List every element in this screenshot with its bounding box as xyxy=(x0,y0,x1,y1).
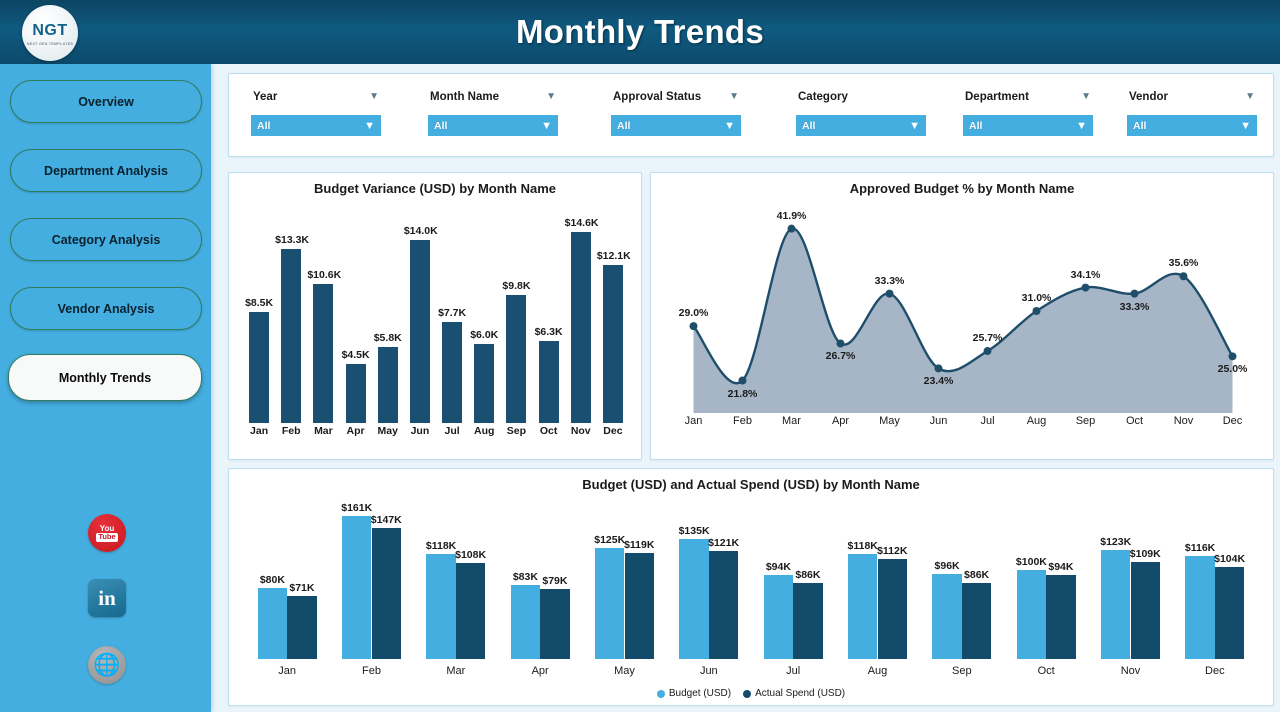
legend-color-swatch xyxy=(743,690,751,698)
bar[interactable] xyxy=(595,548,625,659)
x-axis-tick: Jul xyxy=(963,415,1012,427)
x-axis-tick: Oct xyxy=(1004,665,1088,677)
bar-value-label: $123K xyxy=(1093,536,1139,548)
data-point-label: 23.4% xyxy=(914,375,963,387)
legend-label: Actual Spend (USD) xyxy=(755,688,845,699)
logo-text: NGT xyxy=(32,23,67,39)
bar[interactable] xyxy=(1017,570,1047,659)
x-axis-tick: Feb xyxy=(718,415,767,427)
bar[interactable] xyxy=(793,583,823,659)
bar-value-label: $108K xyxy=(448,549,494,561)
slicer-month-name: Month Name ▼ All ▼ xyxy=(428,87,558,136)
bar[interactable] xyxy=(287,596,317,659)
x-axis-tick: Sep xyxy=(1061,415,1110,427)
chevron-down-icon: ▼ xyxy=(364,121,375,131)
bar-value-label: $4.5K xyxy=(340,349,372,361)
page-title: Monthly Trends xyxy=(0,13,1280,51)
bar[interactable] xyxy=(346,364,366,423)
x-axis-tick: May xyxy=(865,415,914,427)
chart-title: Approved Budget % by Month Name xyxy=(651,181,1273,196)
bar[interactable] xyxy=(258,588,288,659)
slicer-value: All xyxy=(434,120,447,132)
x-axis-tick: Jan xyxy=(245,665,329,677)
bar[interactable] xyxy=(410,240,430,423)
bar-value-label: $6.3K xyxy=(533,326,565,338)
slicer-header[interactable]: Department ▼ xyxy=(963,87,1093,107)
x-axis-tick: Jun xyxy=(914,415,963,427)
bar-value-label: $119K xyxy=(617,539,663,551)
bar[interactable] xyxy=(372,528,402,659)
slicer-vendor: Vendor ▼ All ▼ xyxy=(1127,87,1257,136)
slicer-label: Vendor xyxy=(1129,91,1168,103)
bar[interactable] xyxy=(426,554,456,659)
chevron-down-icon[interactable]: ▼ xyxy=(1245,92,1255,102)
legend-item-budget[interactable]: Budget (USD) xyxy=(657,688,731,699)
data-point-label: 31.0% xyxy=(1012,292,1061,304)
sidebar-item-label: Category Analysis xyxy=(52,233,161,247)
bar[interactable] xyxy=(474,344,494,423)
slicer-label: Year xyxy=(253,91,277,103)
chevron-down-icon: ▼ xyxy=(724,121,735,131)
bar-value-label: $135K xyxy=(671,525,717,537)
slicer-category: Category ▼ All ▼ xyxy=(796,87,926,136)
x-axis-tick: Aug xyxy=(835,665,919,677)
bar[interactable] xyxy=(1046,575,1076,659)
bar[interactable] xyxy=(709,551,739,659)
x-axis-tick: Nov xyxy=(1159,415,1208,427)
slicer-label: Department xyxy=(965,91,1029,103)
bar[interactable] xyxy=(506,295,526,423)
bar-value-label: $10.6K xyxy=(307,269,339,281)
x-axis-tick: Apr xyxy=(340,425,372,437)
bar[interactable] xyxy=(764,575,794,659)
bar[interactable] xyxy=(625,553,655,659)
data-point-marker[interactable] xyxy=(886,290,894,298)
slicer-dropdown[interactable]: All ▼ xyxy=(1127,115,1257,136)
bar[interactable] xyxy=(342,516,372,659)
bar-value-label: $86K xyxy=(785,569,831,581)
bar[interactable] xyxy=(511,585,541,659)
legend-item-actual-spend[interactable]: Actual Spend (USD) xyxy=(743,688,845,699)
bar[interactable] xyxy=(571,232,591,423)
bar[interactable] xyxy=(878,559,908,659)
sidebar: Overview Department Analysis Category An… xyxy=(0,64,211,712)
data-point-label: 21.8% xyxy=(718,388,767,400)
logo-subtext: NEXT GEN TEMPLATES xyxy=(27,42,73,46)
x-axis-tick: Oct xyxy=(533,425,565,437)
data-point-label: 26.7% xyxy=(816,350,865,362)
sidebar-item-department-analysis[interactable]: Department Analysis xyxy=(10,149,202,192)
x-axis-tick: Apr xyxy=(498,665,582,677)
x-axis-tick: Oct xyxy=(1110,415,1159,427)
bar[interactable] xyxy=(1215,567,1245,659)
sidebar-item-label: Overview xyxy=(78,95,134,109)
x-axis-tick: Jul xyxy=(436,425,468,437)
plot-area: $8.5K$13.3K$10.6K$4.5K$5.8K$14.0K$7.7K$6… xyxy=(243,211,629,423)
chart-legend: Budget (USD) Actual Spend (USD) xyxy=(229,688,1273,699)
x-axis: JanFebMarAprMayJunJulAugSepOctNovDec xyxy=(245,665,1257,683)
x-axis-tick: Sep xyxy=(920,665,1004,677)
youtube-line2: Tube xyxy=(96,533,117,542)
x-axis-tick: Aug xyxy=(468,425,500,437)
bar-value-label: $13.3K xyxy=(275,234,307,246)
bar[interactable] xyxy=(456,563,486,659)
chart-budget-vs-actual[interactable]: Budget (USD) and Actual Spend (USD) by M… xyxy=(228,468,1274,706)
slicer-dropdown[interactable]: All ▼ xyxy=(796,115,926,136)
slicer-header[interactable]: Vendor ▼ xyxy=(1127,87,1257,107)
slicer-header[interactable]: Approval Status ▼ xyxy=(611,87,741,107)
bar-value-label: $71K xyxy=(279,582,325,594)
bar[interactable] xyxy=(1185,556,1215,659)
data-point-marker[interactable] xyxy=(984,347,992,355)
x-axis-tick: Sep xyxy=(500,425,532,437)
bar[interactable] xyxy=(539,341,559,423)
slicer-dropdown[interactable]: All ▼ xyxy=(611,115,741,136)
legend-label: Budget (USD) xyxy=(669,688,731,699)
data-point-marker[interactable] xyxy=(1131,290,1139,298)
linkedin-icon[interactable]: in xyxy=(88,579,126,617)
chevron-down-icon: ▼ xyxy=(909,121,920,131)
bar[interactable] xyxy=(1131,562,1161,659)
bar[interactable] xyxy=(249,312,269,423)
bar-value-label: $8.5K xyxy=(243,297,275,309)
slicer-header[interactable]: Year ▼ xyxy=(251,87,381,107)
x-axis-tick: Aug xyxy=(1012,415,1061,427)
slicer-value: All xyxy=(1133,120,1146,132)
bar[interactable] xyxy=(848,554,878,659)
slicer-value: All xyxy=(802,120,815,132)
legend-color-swatch xyxy=(657,690,665,698)
youtube-icon[interactable]: You Tube xyxy=(88,514,126,552)
data-point-label: 33.3% xyxy=(865,275,914,287)
sidebar-item-vendor-analysis[interactable]: Vendor Analysis xyxy=(10,287,202,330)
bar-value-label: $14.6K xyxy=(565,217,597,229)
x-axis-tick: Dec xyxy=(597,425,629,437)
bar-value-label: $7.7K xyxy=(436,307,468,319)
chevron-down-icon[interactable]: ▼ xyxy=(1081,92,1091,102)
x-axis-tick: Jun xyxy=(404,425,436,437)
filter-bar: Year ▼ All ▼ Month Name ▼ All ▼ Approval… xyxy=(228,73,1274,157)
x-axis-tick: Jun xyxy=(667,665,751,677)
data-point-label: 35.6% xyxy=(1159,257,1208,269)
bar-value-label: $112K xyxy=(870,545,916,557)
bar[interactable] xyxy=(378,347,398,423)
website-icon[interactable]: 🌐 xyxy=(88,646,126,684)
x-axis-tick: Mar xyxy=(767,415,816,427)
linkedin-glyph: in xyxy=(98,588,116,609)
chevron-down-icon: ▼ xyxy=(1240,121,1251,131)
data-point-marker[interactable] xyxy=(1229,352,1237,360)
x-axis-tick: Feb xyxy=(275,425,307,437)
slicer-dropdown[interactable]: All ▼ xyxy=(251,115,381,136)
slicer-value: All xyxy=(617,120,630,132)
data-point-label: 25.7% xyxy=(963,332,1012,344)
bar-value-label: $5.8K xyxy=(372,332,404,344)
x-axis-tick: Nov xyxy=(565,425,597,437)
bar[interactable] xyxy=(313,284,333,423)
x-axis-tick: Dec xyxy=(1173,665,1257,677)
sidebar-item-label: Vendor Analysis xyxy=(58,302,155,316)
x-axis-tick: Nov xyxy=(1088,665,1172,677)
globe-glyph: 🌐 xyxy=(93,654,120,676)
slicer-value: All xyxy=(257,120,270,132)
sidebar-item-label: Department Analysis xyxy=(44,164,168,178)
chevron-down-icon[interactable]: ▼ xyxy=(369,92,379,102)
bar-value-label: $94K xyxy=(1038,561,1084,573)
x-axis-tick: Jul xyxy=(751,665,835,677)
data-point-marker[interactable] xyxy=(739,377,747,385)
bar[interactable] xyxy=(603,265,623,423)
bar-value-label: $12.1K xyxy=(597,250,629,262)
plot-area: $80K$71K$161K$147K$118K$108K$83K$79K$125… xyxy=(245,499,1257,659)
data-point-marker[interactable] xyxy=(837,339,845,347)
bar[interactable] xyxy=(679,539,709,659)
x-axis-tick: Mar xyxy=(414,665,498,677)
data-point-marker[interactable] xyxy=(1180,272,1188,280)
bar[interactable] xyxy=(442,322,462,423)
slicer-header[interactable]: Month Name ▼ xyxy=(428,87,558,107)
chart-title: Budget (USD) and Actual Spend (USD) by M… xyxy=(229,477,1273,492)
plot-area: 29.0%21.8%41.9%26.7%33.3%23.4%25.7%31.0%… xyxy=(669,209,1257,413)
chart-approved-budget-pct[interactable]: Approved Budget % by Month Name 29.0%21.… xyxy=(650,172,1274,460)
bar-value-label: $86K xyxy=(954,569,1000,581)
bar-value-label: $14.0K xyxy=(404,225,436,237)
sidebar-item-label: Monthly Trends xyxy=(59,371,151,385)
slicer-header[interactable]: Category ▼ xyxy=(796,87,926,107)
bar-value-label: $9.8K xyxy=(500,280,532,292)
slicer-year: Year ▼ All ▼ xyxy=(251,87,381,136)
x-axis-tick: Feb xyxy=(329,665,413,677)
brand-logo: NGT NEXT GEN TEMPLATES xyxy=(22,5,78,61)
sidebar-item-category-analysis[interactable]: Category Analysis xyxy=(10,218,202,261)
chart-title: Budget Variance (USD) by Month Name xyxy=(229,181,641,196)
data-point-label: 29.0% xyxy=(669,307,718,319)
x-axis-tick: May xyxy=(582,665,666,677)
bar-value-label: $161K xyxy=(334,502,380,514)
x-axis-tick: Jan xyxy=(243,425,275,437)
bar[interactable] xyxy=(540,589,570,659)
chevron-down-icon: ▼ xyxy=(541,121,552,131)
slicer-dropdown[interactable]: All ▼ xyxy=(428,115,558,136)
data-point-marker[interactable] xyxy=(788,225,796,233)
x-axis-tick: Mar xyxy=(307,425,339,437)
dashboard-page: NGT NEXT GEN TEMPLATES Monthly Trends Ov… xyxy=(0,0,1280,712)
data-point-marker[interactable] xyxy=(1082,284,1090,292)
youtube-glyph: You Tube xyxy=(96,525,117,542)
bar[interactable] xyxy=(932,574,962,659)
data-point-marker[interactable] xyxy=(1033,307,1041,315)
chevron-down-icon[interactable]: ▼ xyxy=(546,92,556,102)
x-axis: JanFebMarAprMayJunJulAugSepOctNovDec xyxy=(243,425,629,443)
slicer-label: Month Name xyxy=(430,91,499,103)
bar[interactable] xyxy=(281,249,301,423)
data-point-marker[interactable] xyxy=(935,364,943,372)
x-axis-tick: Apr xyxy=(816,415,865,427)
chevron-down-icon[interactable]: ▼ xyxy=(729,92,739,102)
bar[interactable] xyxy=(1101,550,1131,659)
bar-value-label: $6.0K xyxy=(468,329,500,341)
area-series-svg xyxy=(669,209,1257,413)
slicer-value: All xyxy=(969,120,982,132)
sidebar-item-monthly-trends[interactable]: Monthly Trends xyxy=(8,354,202,401)
x-axis-tick: Dec xyxy=(1208,415,1257,427)
slicer-department: Department ▼ All ▼ xyxy=(963,87,1093,136)
bar-value-label: $109K xyxy=(1123,548,1169,560)
slicer-approval-status: Approval Status ▼ All ▼ xyxy=(611,87,741,136)
chart-budget-variance[interactable]: Budget Variance (USD) by Month Name $8.5… xyxy=(228,172,642,460)
bar[interactable] xyxy=(962,583,992,659)
data-point-marker[interactable] xyxy=(690,322,698,330)
bar-value-label: $147K xyxy=(364,514,410,526)
page-header: NGT NEXT GEN TEMPLATES Monthly Trends xyxy=(0,0,1280,64)
data-point-label: 34.1% xyxy=(1061,269,1110,281)
sidebar-item-overview[interactable]: Overview xyxy=(10,80,202,123)
slicer-dropdown[interactable]: All ▼ xyxy=(963,115,1093,136)
bar-value-label: $121K xyxy=(701,537,747,549)
data-point-label: 41.9% xyxy=(767,210,816,222)
x-axis-tick: Jan xyxy=(669,415,718,427)
data-point-label: 25.0% xyxy=(1208,363,1257,375)
bar-value-label: $104K xyxy=(1207,553,1253,565)
data-point-label: 33.3% xyxy=(1110,301,1159,313)
bar-value-label: $79K xyxy=(532,575,578,587)
chevron-down-icon: ▼ xyxy=(1076,121,1087,131)
area-fill xyxy=(694,228,1233,413)
x-axis-tick: May xyxy=(372,425,404,437)
x-axis: JanFebMarAprMayJunJulAugSepOctNovDec xyxy=(669,415,1257,433)
slicer-label: Approval Status xyxy=(613,91,701,103)
slicer-label: Category xyxy=(798,91,848,103)
